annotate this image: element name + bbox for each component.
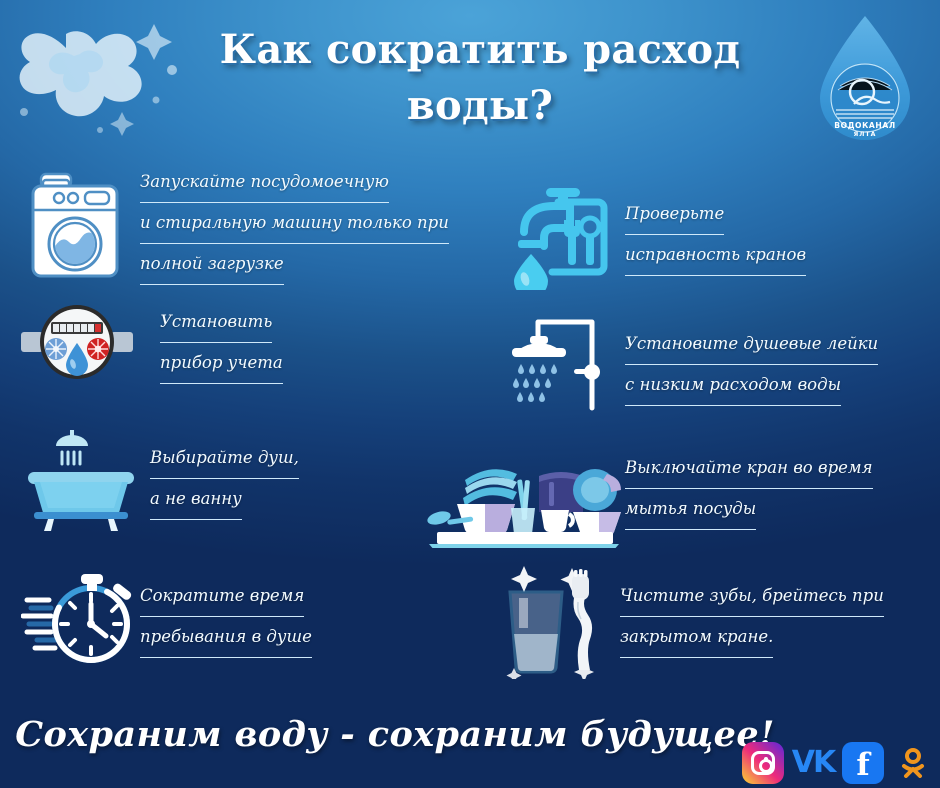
tip-text: Выключайте кран во время мытья посуды <box>625 448 873 530</box>
tip-line: мытья посуды <box>625 489 756 530</box>
bathtub-icon <box>10 424 150 534</box>
shower-head-icon <box>480 312 625 417</box>
tips-grid: Запускайте посудомоечную и стиральную ма… <box>0 162 940 702</box>
tip-line: Установить <box>160 302 272 343</box>
odnoklassniki-icon[interactable] <box>892 742 934 784</box>
tip-line: Выключайте кран во время <box>625 448 873 489</box>
tip-text: Установить прибор учета <box>160 302 283 384</box>
instagram-glyph <box>751 751 775 775</box>
tip-shower-not-bath: Выбирайте душ, а не ванну <box>10 424 299 534</box>
facebook-glyph: f <box>856 750 869 781</box>
tip-line: Чистите зубы, брейтесь при <box>620 576 884 617</box>
water-meter-icon <box>14 302 140 384</box>
tip-text: Запускайте посудомоечную и стиральную ма… <box>140 162 449 285</box>
tip-dishwasher-washing-machine: Запускайте посудомоечную и стиральную ма… <box>10 162 449 285</box>
tip-line: пребывания в душе <box>140 617 312 658</box>
vodokanal-yalta-logo: ВОДОКАНАЛ ЯЛТА <box>810 12 920 140</box>
instagram-icon[interactable] <box>742 742 784 784</box>
tip-line: Выбирайте душ, <box>150 438 299 479</box>
poster-title: Как сократить расход воды? <box>170 22 790 134</box>
tip-line: прибор учета <box>160 343 283 384</box>
tip-text: Установите душевые лейки с низким расход… <box>625 324 878 406</box>
tip-line: с низким расходом воды <box>625 365 841 406</box>
logo-name-secondary: ЯЛТА <box>854 131 877 138</box>
tip-low-flow-showerhead: Установите душевые лейки с низким расход… <box>480 312 878 417</box>
tip-line: Проверьте <box>625 194 724 235</box>
poster-slogan: Сохраним воду - сохраним будущее! <box>0 714 790 755</box>
logo-name-primary: ВОДОКАНАЛ <box>834 121 896 130</box>
tip-line: Установите душевые лейки <box>625 324 878 365</box>
stopwatch-icon <box>20 562 140 672</box>
facebook-icon[interactable]: f <box>842 742 884 784</box>
tip-shorter-showers: Сократите время пребывания в душе <box>20 562 312 672</box>
infographic-poster: ВОДОКАНАЛ ЯЛТА Как сократить расход воды… <box>0 0 940 788</box>
stacked-dishes-icon <box>420 430 625 548</box>
tip-check-taps: Проверьте исправность кранов <box>480 180 806 290</box>
tip-text: Проверьте исправность кранов <box>625 194 806 276</box>
tip-text: Сократите время пребывания в душе <box>140 576 312 658</box>
tip-line: исправность кранов <box>625 235 806 276</box>
tip-text: Выбирайте душ, а не ванну <box>150 438 299 520</box>
tip-line: Сократите время <box>140 576 304 617</box>
toothbrush-glass-icon <box>480 554 620 679</box>
tip-line: а не ванну <box>150 479 242 520</box>
instagram-lens <box>759 759 773 773</box>
vk-icon[interactable]: VK <box>792 742 834 784</box>
tip-tap-off-while-brushing: Чистите зубы, брейтесь при закрытом кран… <box>480 554 884 679</box>
odnoklassniki-glyph <box>900 748 926 778</box>
faucet-repair-icon <box>480 180 625 290</box>
instagram-dot <box>764 757 768 761</box>
tip-line: закрытом кране. <box>620 617 773 658</box>
tip-line: Запускайте посудомоечную <box>140 162 389 203</box>
social-links: VK f <box>742 742 934 784</box>
tip-line: и стиральную машину только при <box>140 203 449 244</box>
tip-text: Чистите зубы, брейтесь при закрытом кран… <box>620 576 884 658</box>
vk-glyph: VK <box>792 748 834 778</box>
tip-tap-off-while-washing-dishes: Выключайте кран во время мытья посуды <box>420 430 873 548</box>
tip-line: полной загрузке <box>140 244 284 285</box>
washing-machine-icon <box>10 168 140 280</box>
tip-install-meter: Установить прибор учета <box>14 302 283 384</box>
